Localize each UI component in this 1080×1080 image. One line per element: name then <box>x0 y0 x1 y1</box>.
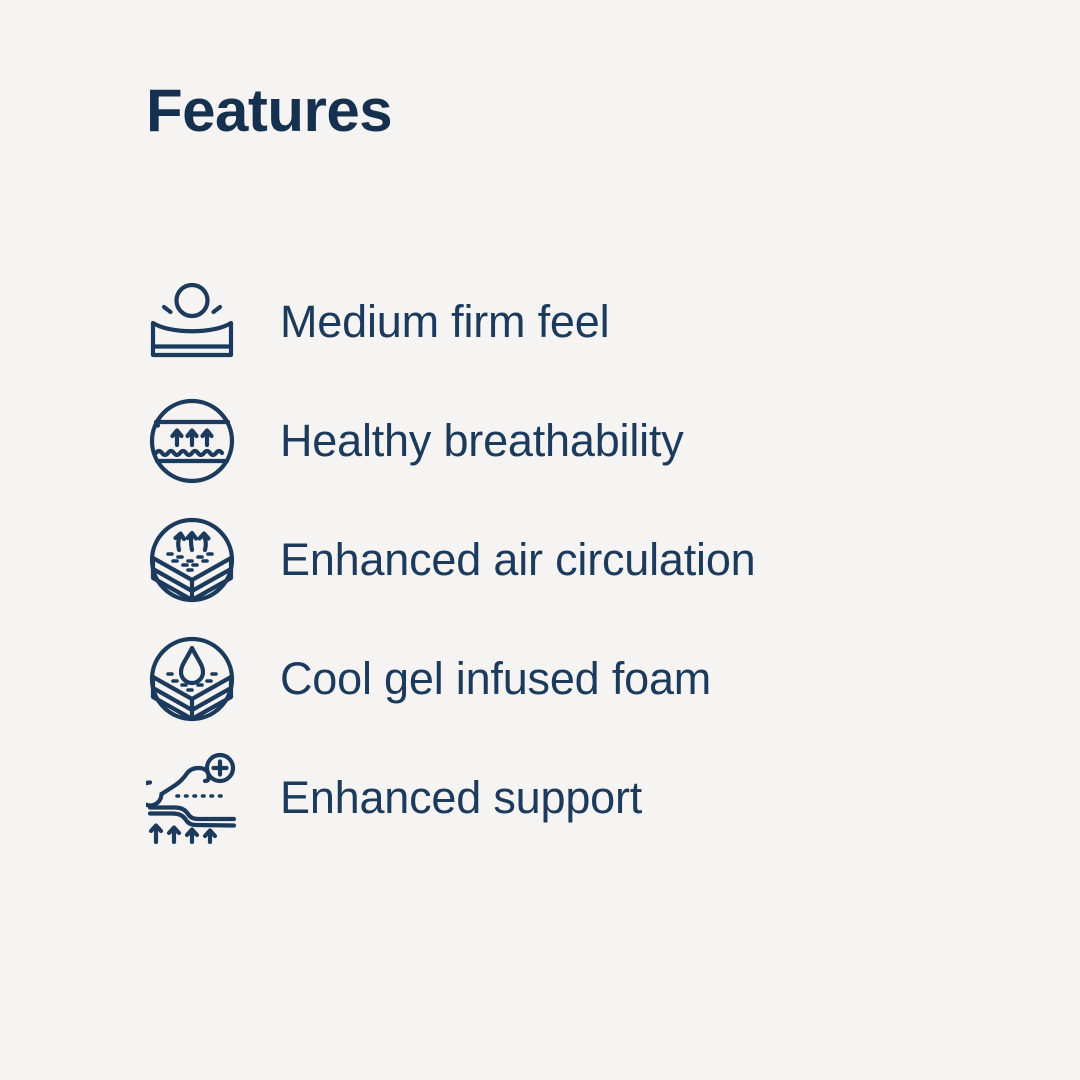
layered-foam-airflow-circle-icon <box>146 514 238 606</box>
list-item: Enhanced support <box>146 738 1006 857</box>
layered-foam-gel-droplet-circle-icon <box>146 633 238 725</box>
list-item-label: Enhanced air circulation <box>280 534 755 586</box>
list-item-label: Cool gel infused foam <box>280 653 711 705</box>
list-item-label: Enhanced support <box>280 772 642 824</box>
person-lying-support-plus-icon <box>146 752 238 844</box>
list-item: Healthy breathability <box>146 381 1006 500</box>
list-item: Cool gel infused foam <box>146 619 1006 738</box>
page-title: Features <box>146 78 392 144</box>
features-list: Medium firm feel Healthy breathability <box>146 262 1006 857</box>
list-item: Medium firm feel <box>146 262 1006 381</box>
breathability-airflow-circle-icon <box>146 395 238 487</box>
list-item-label: Medium firm feel <box>280 296 609 348</box>
list-item-label: Healthy breathability <box>280 415 684 467</box>
features-page: Features Medium firm feel <box>0 0 1080 1080</box>
mattress-bounce-ball-icon <box>146 276 238 368</box>
list-item: Enhanced air circulation <box>146 500 1006 619</box>
